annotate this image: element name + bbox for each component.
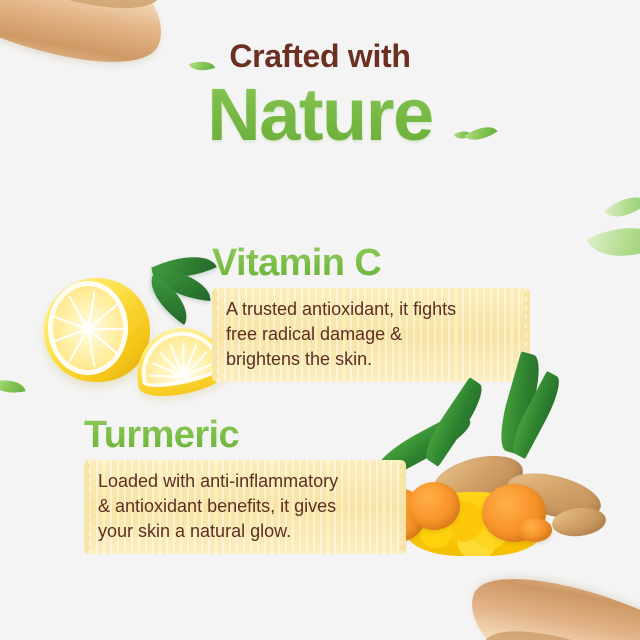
cream-swatch-bottom-right-accent [466, 611, 640, 640]
leaf-icon-right-edge-small [604, 186, 640, 229]
ingredient-highlight-band-vitamin-c: A trusted antioxidant, it fights free ra… [212, 288, 530, 382]
leaf-icon-left-edge [0, 375, 26, 399]
ingredient-block-turmeric: Turmeric Loaded with anti-inflammatory &… [84, 416, 406, 554]
ingredient-highlight-band-turmeric: Loaded with anti-inflammatory & antioxid… [84, 460, 406, 554]
turmeric-leaf-blade-left-upper [418, 377, 489, 467]
cream-swatch-top-left-accent [0, 0, 178, 29]
cream-swatch-bottom-right [450, 552, 640, 640]
ingredient-description-vitamin-c: A trusted antioxidant, it fights free ra… [212, 288, 530, 382]
heading-title: Nature [0, 78, 640, 152]
poster-heading: Crafted with Nature [0, 40, 640, 152]
turmeric-slice-small [518, 518, 552, 542]
lemon-half [44, 278, 150, 382]
ingredient-title-turmeric: Turmeric [84, 416, 406, 454]
lemon-half-flesh [48, 281, 128, 375]
ingredient-block-vitamin-c: Vitamin C A trusted antioxidant, it figh… [212, 244, 530, 382]
leaf-icon-right-edge [586, 209, 640, 275]
heading-eyebrow: Crafted with [0, 40, 640, 72]
poster-canvas: Crafted with Nature [0, 0, 640, 640]
turmeric-slice-left-back [408, 482, 460, 530]
ingredient-description-turmeric: Loaded with anti-inflammatory & antioxid… [84, 460, 406, 554]
lemon-illustration [38, 252, 238, 402]
ingredient-title-vitamin-c: Vitamin C [212, 244, 530, 282]
